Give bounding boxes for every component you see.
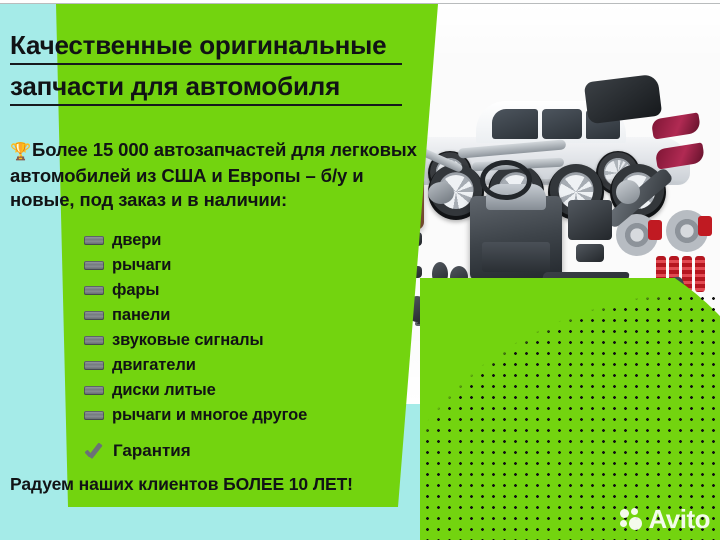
dash-icon xyxy=(84,261,104,270)
dash-icon xyxy=(84,411,104,420)
car-window-front xyxy=(492,109,538,139)
lead-text: Более 15 000 автозапчастей для легковых … xyxy=(10,139,417,210)
misc-part xyxy=(576,244,604,262)
list-item: панели xyxy=(84,303,307,328)
headline-line-1: Качественные оригинальные xyxy=(10,32,402,65)
steering-wheel xyxy=(480,160,532,200)
dash-icon xyxy=(84,336,104,345)
misc-part xyxy=(568,200,612,240)
brake-disc xyxy=(666,210,708,252)
list-item-label: рычаги и многое другое xyxy=(112,406,307,425)
headline-line-2: запчасти для автомобиля xyxy=(10,73,402,106)
check-icon xyxy=(84,440,106,462)
list-item-label: диски литые xyxy=(112,381,216,400)
list-item-label: панели xyxy=(112,306,170,325)
engine-block xyxy=(470,196,562,280)
page-title: Качественные оригинальные запчасти для а… xyxy=(10,32,430,114)
list-item: рычаги xyxy=(84,253,307,278)
misc-part xyxy=(616,180,640,204)
advertisement-banner: Качественные оригинальные запчасти для а… xyxy=(0,0,720,540)
list-item: фары xyxy=(84,278,307,303)
guarantee-label: Гарантия xyxy=(113,441,191,461)
avito-wordmark: Avito xyxy=(648,506,710,532)
halftone-dot-pattern xyxy=(420,280,720,540)
list-item-label: двигатели xyxy=(112,356,196,375)
trophy-icon: 🏆 xyxy=(10,141,30,164)
tagline: Радуем наших клиентов БОЛЕЕ 10 ЛЕТ! xyxy=(10,474,353,495)
dash-icon xyxy=(84,236,104,245)
guarantee-row: Гарантия xyxy=(84,440,191,462)
avito-mark-icon xyxy=(620,508,644,530)
list-item-label: звуковые сигналы xyxy=(112,331,264,350)
avito-logo: Avito xyxy=(620,506,710,532)
plastic-cover-part xyxy=(584,74,663,125)
list-item: двигатели xyxy=(84,353,307,378)
dash-icon xyxy=(84,286,104,295)
top-divider xyxy=(0,3,720,4)
dash-icon xyxy=(84,386,104,395)
content-block: Качественные оригинальные запчасти для а… xyxy=(0,0,460,540)
list-item-label: двери xyxy=(112,231,161,250)
car-window-middle xyxy=(542,109,582,139)
list-item: двери xyxy=(84,228,307,253)
dash-icon xyxy=(84,311,104,320)
list-item: рычаги и многое другое xyxy=(84,403,307,428)
list-item: звуковые сигналы xyxy=(84,328,307,353)
lead-paragraph: 🏆Более 15 000 автозапчастей для легковых… xyxy=(10,138,430,213)
list-item: диски литые xyxy=(84,378,307,403)
list-item-label: рычаги xyxy=(112,256,171,275)
dash-icon xyxy=(84,361,104,370)
list-item-label: фары xyxy=(112,281,159,300)
parts-list: двери рычаги фары панели звуковые сигнал… xyxy=(84,228,307,428)
